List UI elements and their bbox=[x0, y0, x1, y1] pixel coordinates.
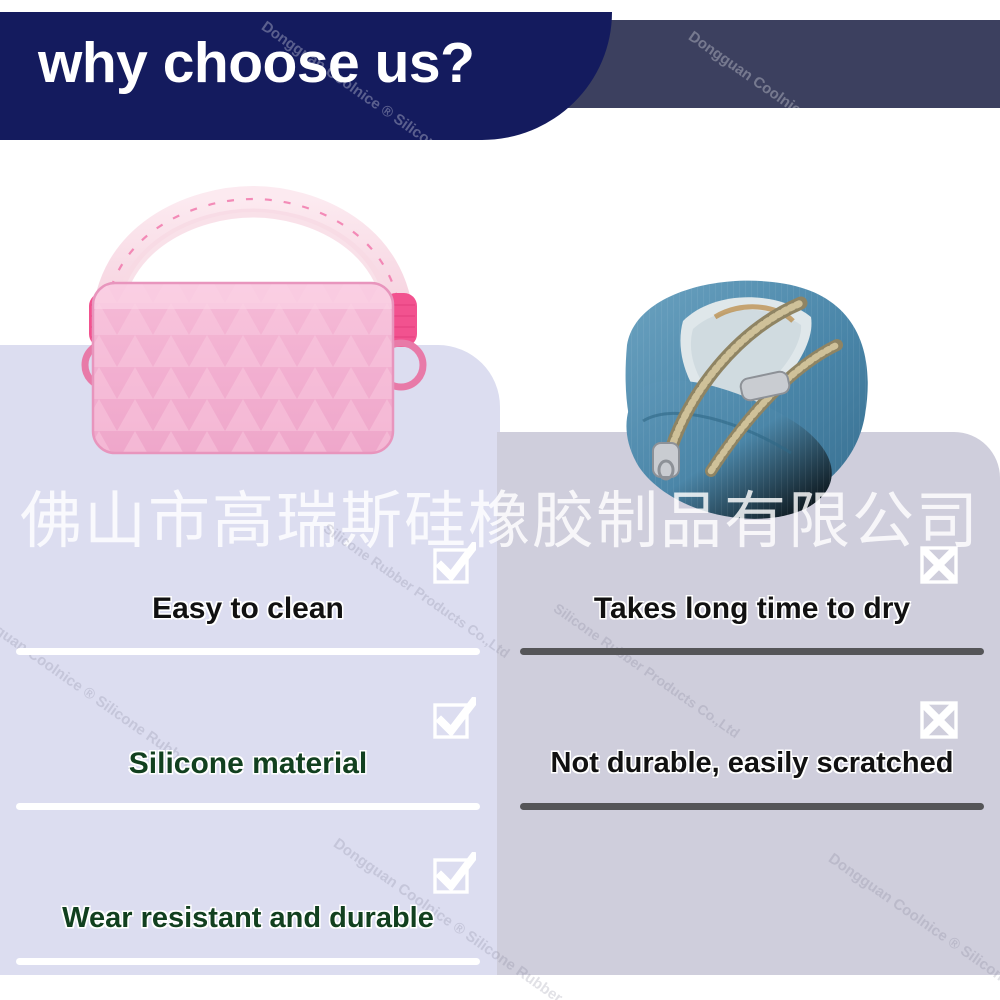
checkbox-checked-icon bbox=[432, 697, 476, 741]
checkbox-crossed-icon bbox=[918, 542, 962, 586]
cons-label: Takes long time to dry bbox=[512, 592, 992, 626]
cons-row: Not durable, easily scratched bbox=[512, 675, 992, 830]
pros-label: Wear resistant and durable bbox=[8, 902, 488, 935]
cons-divider bbox=[520, 648, 984, 655]
pros-label: Silicone material bbox=[8, 747, 488, 781]
checkbox-crossed-icon bbox=[918, 697, 962, 741]
pink-silicone-bag-image bbox=[45, 175, 465, 505]
pros-label: Easy to clean bbox=[8, 592, 488, 626]
pros-divider bbox=[16, 803, 480, 810]
pros-divider bbox=[16, 958, 480, 965]
why-choose-us-graphic: why choose us? bbox=[0, 0, 1000, 1000]
pros-row: Silicone material bbox=[8, 675, 488, 830]
pros-column: Easy to clean Silicone material bbox=[8, 520, 488, 990]
cons-row: Takes long time to dry bbox=[512, 520, 992, 675]
checkbox-checked-icon bbox=[432, 852, 476, 896]
pros-row: Easy to clean bbox=[8, 520, 488, 675]
checkbox-checked-icon bbox=[432, 542, 476, 586]
page-title: why choose us? bbox=[38, 30, 474, 96]
cons-label: Not durable, easily scratched bbox=[512, 747, 992, 780]
blue-denim-pouch-image bbox=[565, 225, 905, 565]
cons-column: Takes long time to dry Not durable, easi… bbox=[512, 520, 992, 990]
pros-divider bbox=[16, 648, 480, 655]
pros-row: Wear resistant and durable bbox=[8, 830, 488, 985]
cons-divider bbox=[520, 803, 984, 810]
comparison-section: Easy to clean Silicone material bbox=[0, 520, 1000, 990]
